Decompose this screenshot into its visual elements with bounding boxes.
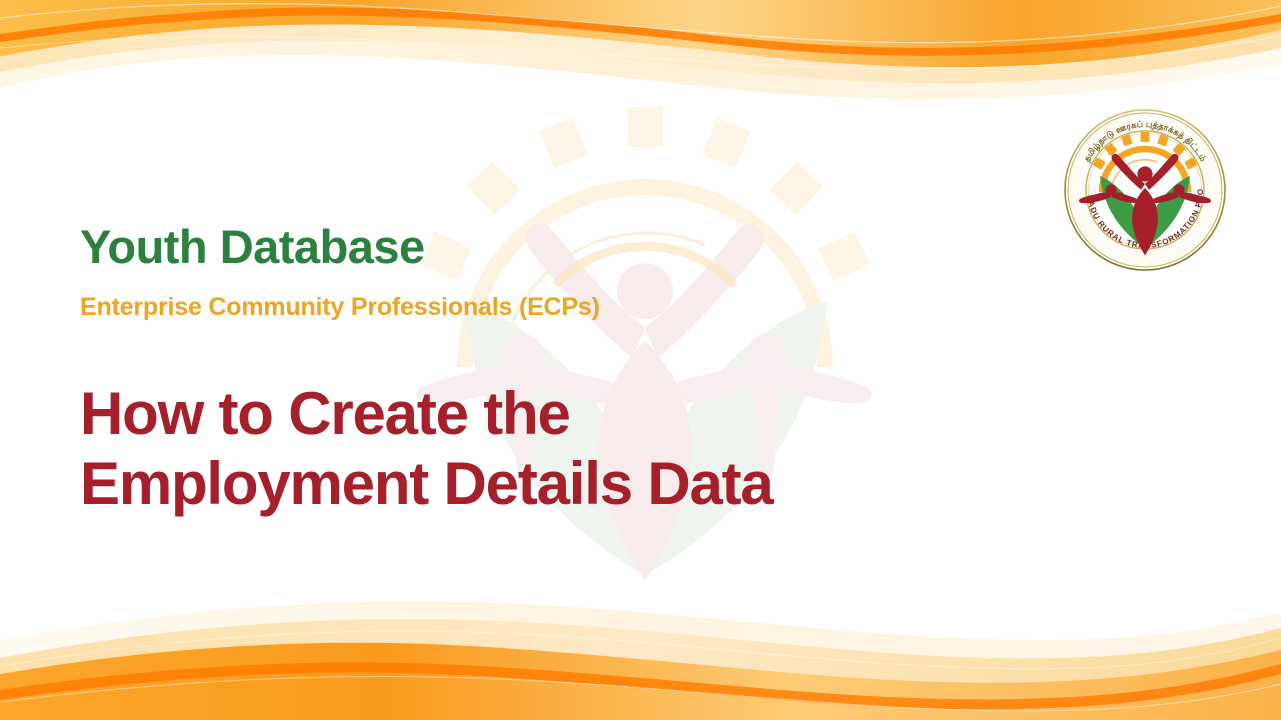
tnrtp-logo-icon: தமிழ்நாடு ஊரகப் புத்தாக்கத் திட்டம் · TA… — [1063, 108, 1227, 272]
title-text-block: Youth Database Enterprise Community Prof… — [80, 222, 980, 518]
page-subtitle: Enterprise Community Professionals (ECPs… — [80, 294, 980, 322]
page-kicker: Youth Database — [80, 222, 980, 273]
page-title-line-1: How to Create the — [80, 379, 980, 449]
bottom-wave-decoration — [0, 570, 1281, 720]
page-title: How to Create the Employment Details Dat… — [80, 379, 980, 518]
title-slide: Youth Database Enterprise Community Prof… — [0, 0, 1281, 720]
page-title-line-2: Employment Details Data — [80, 449, 980, 519]
top-wave-decoration — [0, 0, 1281, 120]
